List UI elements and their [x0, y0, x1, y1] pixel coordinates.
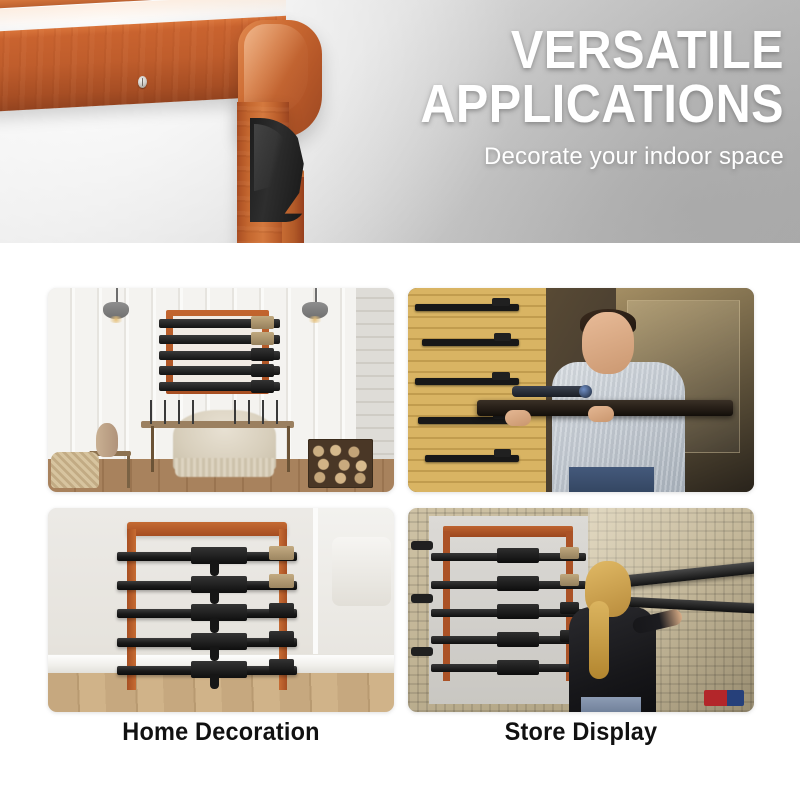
product-marketing-page: VERSATILE APPLICATIONS Decorate your ind…	[0, 0, 800, 800]
bench-spindle	[178, 400, 180, 424]
sconce-glow	[307, 316, 323, 323]
display-rifle	[422, 339, 519, 346]
wall-sconce-right-icon	[302, 302, 328, 322]
wall-sconce-left-icon	[103, 302, 129, 322]
gun-rack-five-slot	[439, 526, 577, 681]
staff-jeans	[581, 697, 641, 712]
rifle-scope	[512, 386, 588, 397]
application-photo-grid: Home Decoration Store Display	[0, 252, 800, 800]
bench-legs	[151, 426, 291, 473]
store-staff-person	[560, 561, 664, 712]
rifle-stock-black	[269, 631, 294, 645]
rifle-stock-black	[251, 348, 274, 361]
sconce-glow	[108, 316, 124, 323]
bench-spindle	[248, 400, 250, 424]
bench-spindle	[234, 400, 236, 424]
photo-card-home-wall-rack	[48, 508, 394, 712]
rifle-receiver	[497, 660, 539, 675]
hero-headline-line2: APPLICATIONS	[280, 78, 784, 130]
display-rifle	[418, 417, 518, 424]
gun-rack-five-slot	[124, 522, 290, 689]
photo-card-store-pegboard	[408, 508, 754, 712]
scene-home-living-room	[48, 288, 394, 492]
rifle-stock-tan	[269, 546, 294, 560]
woven-basket	[51, 452, 99, 488]
bench-spindle	[150, 400, 152, 424]
customer-hand-right	[588, 406, 614, 422]
rack-top-rail	[443, 526, 573, 537]
rifle-stock-black	[269, 603, 294, 617]
rifle-grip	[210, 674, 219, 689]
shelf-product-box	[704, 690, 744, 706]
rifle-receiver	[497, 576, 539, 591]
rack-top-rail	[127, 522, 286, 535]
scene-home-wall-rack	[48, 508, 394, 712]
scene-store-pegboard	[408, 508, 754, 712]
scene-gun-store	[408, 288, 754, 492]
wooden-bench	[141, 410, 293, 473]
rifle-stock-tan	[251, 316, 274, 329]
rifle-receiver	[497, 548, 539, 563]
caption-store-display: Store Display	[418, 718, 743, 747]
hero-text-block: VERSATILE APPLICATIONS Decorate your ind…	[224, 24, 784, 171]
hero-subheadline: Decorate your indoor space	[224, 143, 784, 171]
rifle-stock-black	[251, 364, 274, 377]
bench-spindle	[276, 400, 278, 424]
rifle-stock-tan	[251, 332, 274, 345]
pegboard-hook-icon	[411, 594, 433, 603]
display-rifle	[415, 378, 519, 385]
firewood-stack	[308, 439, 374, 488]
rifle-stock-tan	[560, 547, 579, 559]
customer-hand-left	[505, 410, 531, 426]
display-rifle	[415, 304, 519, 311]
rifle-receiver	[497, 632, 539, 647]
rifle-stock-black	[251, 380, 274, 393]
wall-mounted-gun-rack	[166, 310, 270, 394]
rifle-stock-tan	[269, 574, 294, 588]
white-sofa	[332, 537, 391, 606]
bench-spindle	[192, 400, 194, 424]
rifle-grip	[210, 618, 219, 633]
hero-headline-line1: VERSATILE	[280, 24, 784, 76]
rifle-receiver	[497, 604, 539, 619]
bench-spindle	[164, 400, 166, 424]
rifle-grip	[210, 561, 219, 576]
bench-spindle	[262, 400, 264, 424]
photo-card-gun-store	[408, 288, 754, 492]
photo-card-home-living-room	[48, 288, 394, 492]
rifle-grip	[210, 646, 219, 661]
display-rifle	[425, 455, 518, 462]
customer-head	[582, 312, 634, 374]
caption-home-decoration: Home Decoration	[58, 718, 383, 747]
ceramic-vase	[96, 423, 118, 457]
staff-ponytail	[589, 601, 609, 679]
hero-banner: VERSATILE APPLICATIONS Decorate your ind…	[0, 0, 800, 243]
customer-jeans	[569, 467, 655, 492]
pegboard-hook-icon	[411, 541, 433, 550]
pegboard-hook-icon	[411, 647, 433, 656]
rifle-stock-black	[269, 659, 294, 673]
rifle-grip	[210, 589, 219, 604]
